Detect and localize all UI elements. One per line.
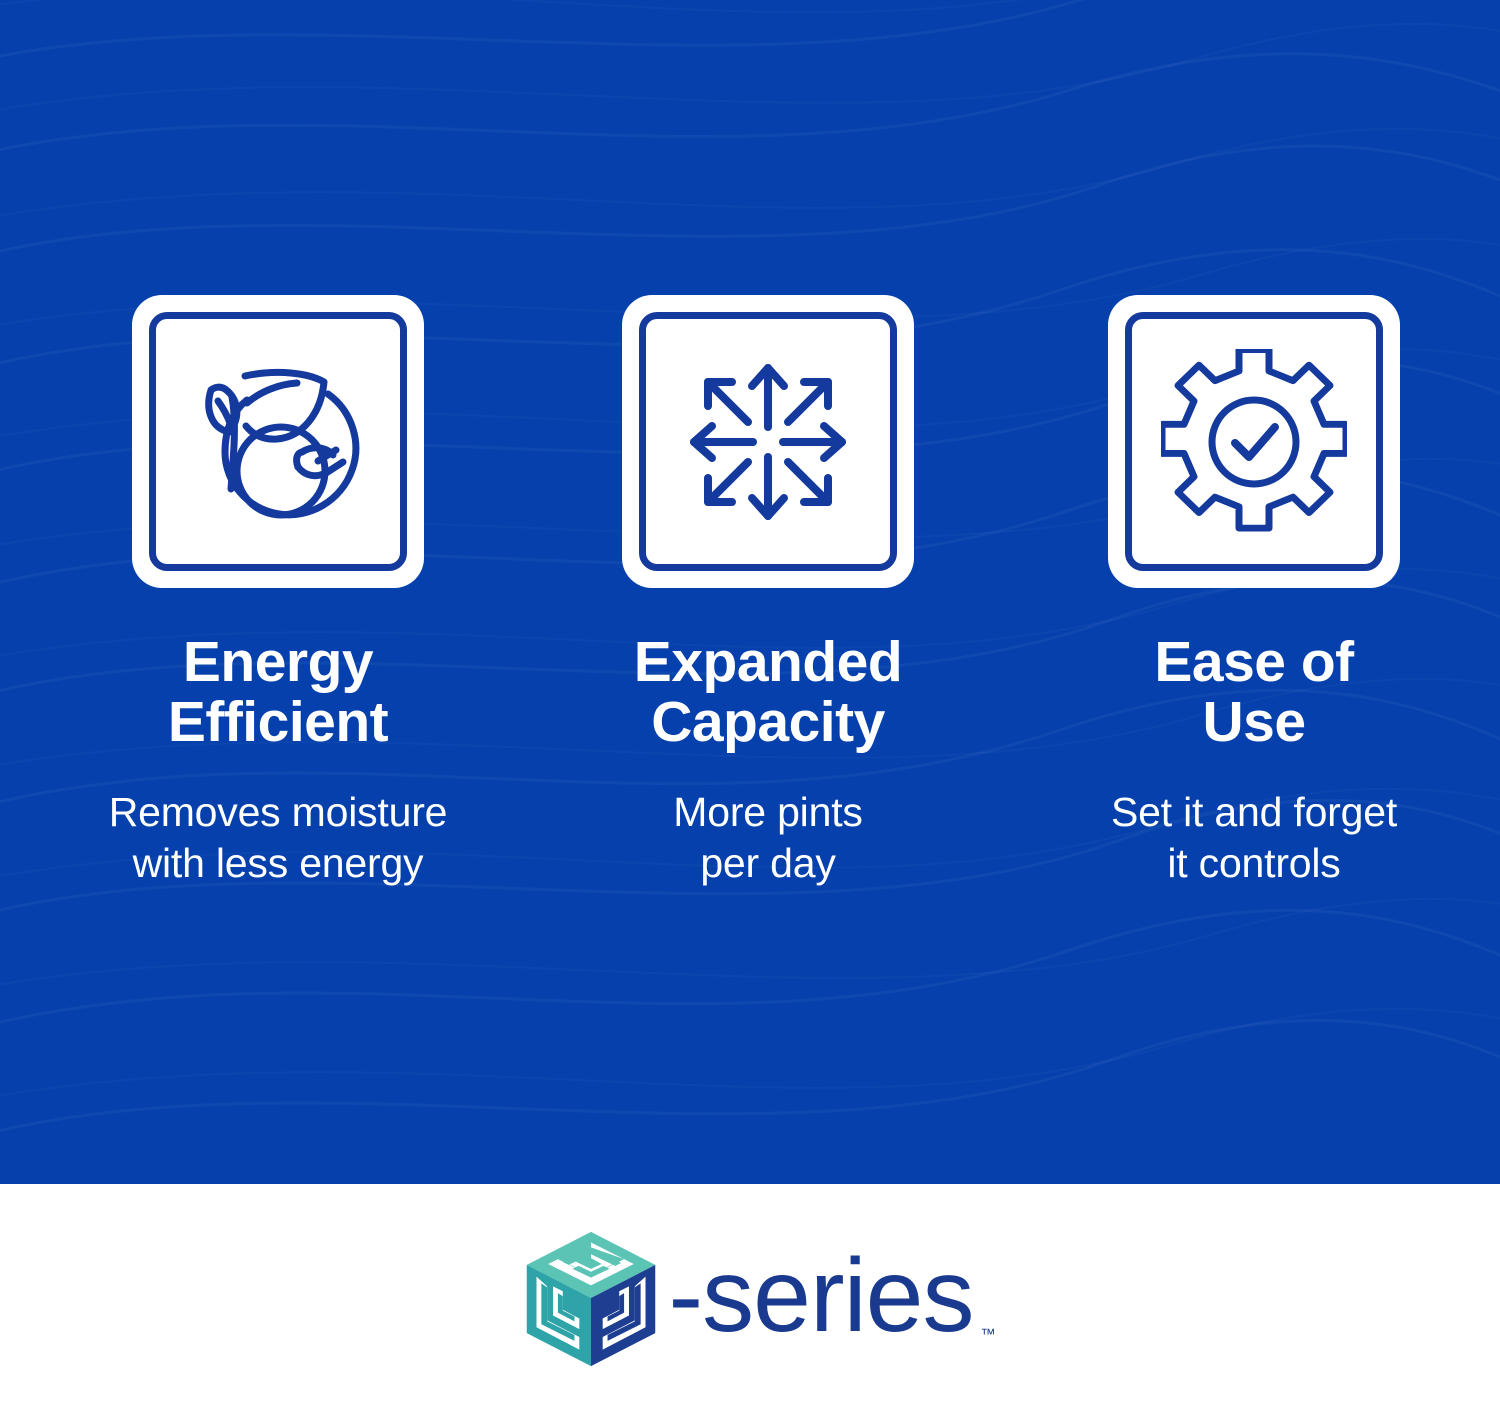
feature-subtitle: Removes moisture with less energy xyxy=(109,787,448,889)
feature-subtitle: More pints per day xyxy=(673,787,862,889)
feature-title: Expanded Capacity xyxy=(634,632,902,753)
logo-band: -series ™ xyxy=(0,1184,1500,1402)
icon-frame xyxy=(639,312,897,571)
hero-panel: Energy Efficient Removes moisture with l… xyxy=(0,0,1500,1184)
logo-wordmark: -series ™ xyxy=(668,1244,973,1354)
icon-frame xyxy=(1125,312,1383,571)
logo-wordmark-text: -series xyxy=(668,1238,973,1354)
icon-frame xyxy=(149,312,407,571)
expand-arrows-icon xyxy=(675,349,861,535)
feature-expanded-capacity: Expanded Capacity More pints per day xyxy=(528,295,1008,888)
eco-energy-plug-icon xyxy=(185,349,371,535)
feature-title: Ease of Use xyxy=(1154,632,1353,753)
feature-title: Energy Efficient xyxy=(168,632,388,753)
feature-icon-card xyxy=(132,295,424,588)
feature-ease-of-use: Ease of Use Set it and forget it control… xyxy=(1014,295,1494,888)
e-cube-isometric-logo xyxy=(518,1226,664,1372)
gear-check-icon xyxy=(1161,349,1347,535)
feature-energy-efficient: Energy Efficient Removes moisture with l… xyxy=(38,295,518,888)
trademark-symbol: ™ xyxy=(981,1327,996,1342)
feature-row: Energy Efficient Removes moisture with l… xyxy=(0,295,1500,888)
brand-logo-lockup: -series ™ xyxy=(518,1226,973,1372)
feature-poster: Energy Efficient Removes moisture with l… xyxy=(0,0,1500,1402)
feature-icon-card xyxy=(622,295,914,588)
feature-subtitle: Set it and forget it controls xyxy=(1111,787,1397,889)
feature-icon-card xyxy=(1108,295,1400,588)
